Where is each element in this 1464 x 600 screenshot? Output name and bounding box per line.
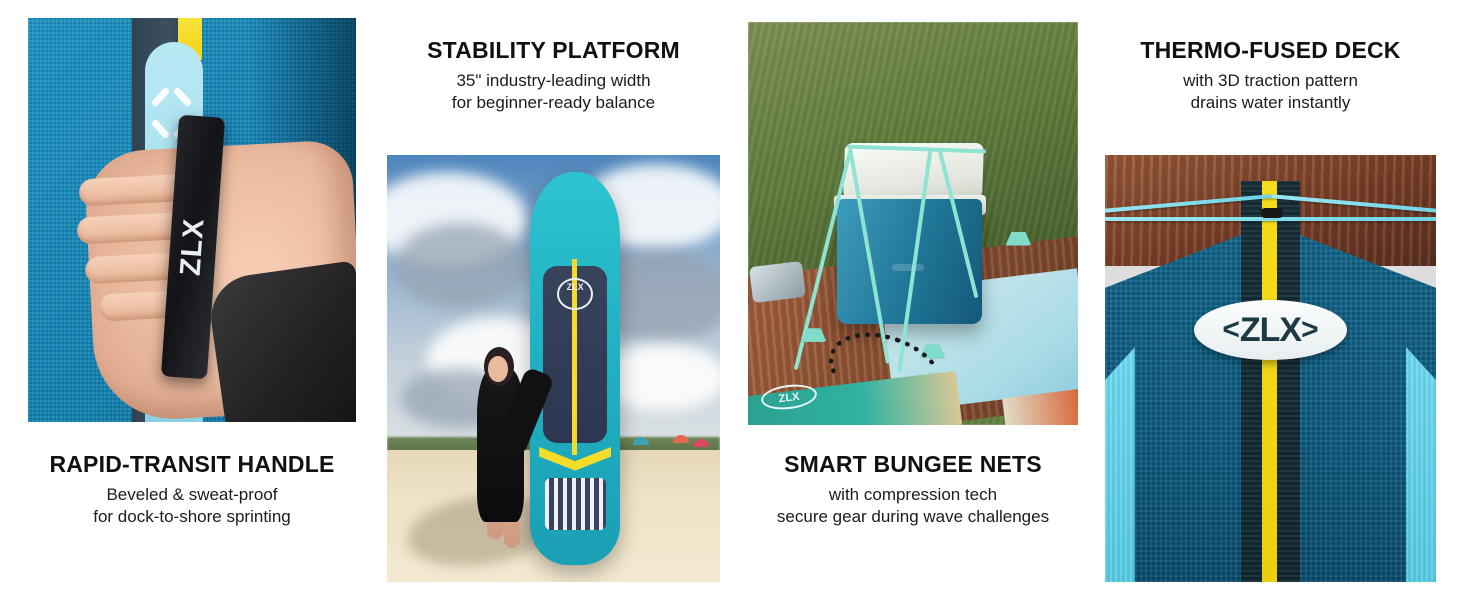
strap-logo-text: ZLX bbox=[175, 217, 212, 277]
zlx-logo-badge: < ZLX > bbox=[1194, 300, 1346, 360]
feature-image-smart-bungee-nets: ZLX bbox=[748, 22, 1078, 425]
feature-subtitle-line1: 35" industry-leading width bbox=[387, 70, 720, 92]
feature-title: STABILITY PLATFORM bbox=[387, 36, 720, 64]
wetsuit-sleeve bbox=[206, 260, 356, 422]
feature-subtitle-line1: with compression tech bbox=[748, 484, 1078, 506]
feature-title: RAPID-TRANSIT HANDLE bbox=[28, 450, 356, 478]
feature-infographic: ZLX RAPID-TRANSIT HANDLE Beveled & sweat… bbox=[0, 0, 1464, 600]
paddle-board: ZLX bbox=[530, 172, 620, 565]
caption-thermo-fused-deck: THERMO-FUSED DECK with 3D traction patte… bbox=[1105, 36, 1436, 114]
feature-image-stability-platform: ZLX bbox=[387, 155, 720, 582]
feature-subtitle-line2: drains water instantly bbox=[1105, 92, 1436, 114]
feature-subtitle-line1: Beveled & sweat-proof bbox=[28, 484, 356, 506]
traction-dash bbox=[151, 86, 171, 107]
traction-dash bbox=[151, 118, 171, 139]
feature-image-thermo-fused-deck: < ZLX > bbox=[1105, 155, 1436, 582]
board-valve-cover bbox=[749, 261, 806, 303]
board-tail-traction bbox=[545, 478, 606, 529]
cloud bbox=[394, 223, 527, 308]
logo-text: ZLX bbox=[1240, 311, 1301, 350]
board-logo: ZLX bbox=[557, 278, 593, 309]
feature-subtitle-line2: for beginner-ready balance bbox=[387, 92, 720, 114]
cord-lock bbox=[1261, 208, 1283, 218]
feature-subtitle-line2: secure gear during wave challenges bbox=[748, 506, 1078, 528]
feature-image-rapid-transit-handle: ZLX bbox=[28, 18, 356, 422]
traction-dash bbox=[173, 86, 193, 107]
feature-subtitle-line1: with 3D traction pattern bbox=[1105, 70, 1436, 92]
feature-title: SMART BUNGEE NETS bbox=[748, 450, 1078, 478]
cooler-brand-emboss bbox=[892, 264, 924, 270]
deck-yellow-stripe bbox=[1262, 181, 1277, 582]
logo-right-bracket: > bbox=[1301, 313, 1319, 347]
feature-title: THERMO-FUSED DECK bbox=[1105, 36, 1436, 64]
caption-rapid-transit-handle: RAPID-TRANSIT HANDLE Beveled & sweat-pro… bbox=[28, 450, 356, 528]
feature-subtitle-line2: for dock-to-shore sprinting bbox=[28, 506, 356, 528]
deck-side-panel-left bbox=[1105, 347, 1135, 582]
caption-stability-platform: STABILITY PLATFORM 35" industry-leading … bbox=[387, 36, 720, 114]
caption-smart-bungee-nets: SMART BUNGEE NETS with compression tech … bbox=[748, 450, 1078, 528]
deck-side-panel-right bbox=[1406, 347, 1436, 582]
logo-left-bracket: < bbox=[1222, 313, 1240, 347]
